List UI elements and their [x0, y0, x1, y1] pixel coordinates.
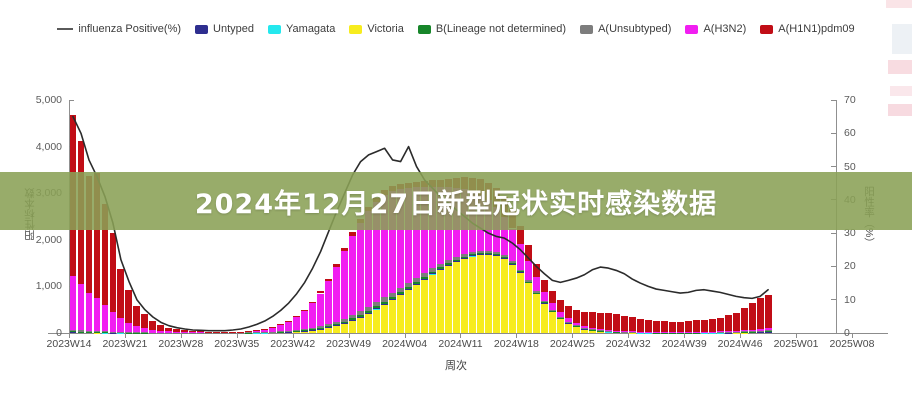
tick-mark	[852, 333, 853, 338]
square-swatch-icon	[580, 25, 593, 34]
tick-mark	[293, 333, 294, 338]
y-axis-left-tick: 5,000	[36, 94, 69, 106]
x-axis-tick-label: 2023W35	[214, 338, 259, 350]
square-swatch-icon	[268, 25, 281, 34]
legend-item[interactable]: influenza Positive(%)	[57, 24, 181, 35]
edge-decoration-strip	[888, 104, 912, 116]
legend-item[interactable]: Yamagata	[268, 24, 335, 35]
overlay-title: 2024年12月27日新型冠状实时感染数据	[0, 172, 912, 230]
tick-mark	[181, 333, 182, 338]
y-axis-right-tick: 70	[836, 94, 856, 106]
edge-decoration-strip	[890, 86, 912, 96]
tick-mark	[684, 333, 685, 338]
square-swatch-icon	[349, 25, 362, 34]
x-axis-tick-label: 2024W25	[550, 338, 595, 350]
y-axis-right-tick: 50	[836, 161, 856, 173]
tick-mark	[349, 333, 350, 338]
x-axis-line	[48, 333, 888, 334]
x-axis-tick-label: 2024W11	[438, 338, 482, 350]
legend-item[interactable]: Untyped	[195, 24, 254, 35]
x-axis-tick-label: 2023W28	[158, 338, 203, 350]
tick-mark	[125, 333, 126, 338]
tick-mark	[405, 333, 406, 338]
y-axis-left-tick: 2,000	[36, 234, 69, 246]
edge-decoration-strip	[886, 0, 912, 8]
x-axis-tick-label: 2023W49	[326, 338, 371, 350]
chart-legend: influenza Positive(%)UntypedYamagataVict…	[0, 18, 912, 40]
square-swatch-icon	[418, 25, 431, 34]
legend-item[interactable]: B(Lineage not determined)	[418, 24, 566, 35]
legend-item-label: B(Lineage not determined)	[436, 24, 566, 35]
x-axis-tick-label: 2023W42	[270, 338, 315, 350]
legend-item[interactable]: A(Unsubtyped)	[580, 24, 671, 35]
x-axis-tick-label: 2024W46	[718, 338, 763, 350]
square-swatch-icon	[685, 25, 698, 34]
legend-item-label: Victoria	[367, 24, 403, 35]
y-axis-right-tick: 60	[836, 127, 856, 139]
x-axis-tick-label: 2024W04	[382, 338, 427, 350]
chart-screenshot: influenza Positive(%)UntypedYamagataVict…	[0, 0, 912, 400]
x-axis-title: 周次	[0, 357, 912, 373]
legend-item-label: A(Unsubtyped)	[598, 24, 671, 35]
x-axis-tick-label: 2024W39	[662, 338, 707, 350]
x-axis-tick-label: 2024W32	[606, 338, 651, 350]
line-marker-icon	[57, 28, 73, 30]
legend-item-label: A(H1N1)pdm09	[778, 24, 854, 35]
y-axis-right-tick: 20	[836, 260, 856, 272]
tick-mark	[740, 333, 741, 338]
x-axis-tick-label: 2023W14	[47, 338, 92, 350]
y-axis-left-tick: 4,000	[36, 141, 69, 153]
y-axis-left-tick: 1,000	[36, 280, 69, 292]
tick-mark	[69, 333, 70, 338]
x-axis-tick-label: 2023W21	[102, 338, 147, 350]
square-swatch-icon	[195, 25, 208, 34]
legend-item[interactable]: Victoria	[349, 24, 403, 35]
legend-item-label: A(H3N2)	[703, 24, 746, 35]
legend-item-label: influenza Positive(%)	[78, 24, 181, 35]
square-swatch-icon	[760, 25, 773, 34]
legend-item[interactable]: A(H1N1)pdm09	[760, 24, 854, 35]
tick-mark	[628, 333, 629, 338]
tick-mark	[460, 333, 461, 338]
tick-mark	[516, 333, 517, 338]
tick-mark	[572, 333, 573, 338]
x-axis-tick-label: 2024W18	[494, 338, 539, 350]
legend-item-label: Untyped	[213, 24, 254, 35]
legend-item-label: Yamagata	[286, 24, 335, 35]
x-axis-tick-label: 2025W01	[774, 338, 819, 350]
y-axis-right-tick: 10	[836, 294, 856, 306]
x-axis-tick-label: 2025W08	[829, 338, 874, 350]
legend-item[interactable]: A(H3N2)	[685, 24, 746, 35]
tick-mark	[796, 333, 797, 338]
edge-decoration-strip	[888, 60, 912, 74]
tick-mark	[237, 333, 238, 338]
